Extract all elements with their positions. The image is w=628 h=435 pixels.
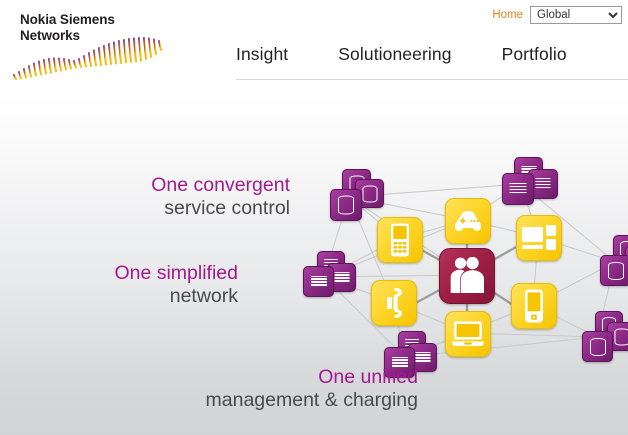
logo-wave-icon xyxy=(8,34,168,82)
laptop-icon xyxy=(452,321,484,347)
tv-node[interactable] xyxy=(516,215,562,261)
tv-screen-icon xyxy=(522,225,556,251)
home-link[interactable]: Home xyxy=(492,9,523,21)
smartphone-icon xyxy=(523,289,545,323)
utility-nav: Home Global xyxy=(492,6,622,24)
mobile-phone-icon xyxy=(389,223,411,257)
gamepad-node[interactable] xyxy=(445,198,491,244)
nav-item-portfolio[interactable]: Portfolio xyxy=(502,44,567,65)
region-select[interactable]: Global xyxy=(530,6,622,24)
gamepad-icon xyxy=(453,210,483,232)
database-stack-icon xyxy=(582,331,613,362)
mobile-node[interactable] xyxy=(377,217,423,263)
nav-item-solutioneering[interactable]: Solutioneering xyxy=(338,44,451,65)
nav-item-insight[interactable]: Insight xyxy=(236,44,288,65)
tagline-unified-line2: management & charging xyxy=(20,389,418,412)
two-people-icon xyxy=(447,257,487,295)
page-canvas: One convergent service control One simpl… xyxy=(0,0,628,435)
smartphone-node[interactable] xyxy=(511,283,557,329)
tagline-unified-line1: One unified xyxy=(20,366,418,389)
nokia-siemens-networks-logo[interactable]: Nokia Siemens Networks xyxy=(8,8,173,78)
telephone-icon xyxy=(383,287,405,319)
server-stack-icon xyxy=(502,173,534,205)
main-navigation: Insight Solutioneering Portfolio xyxy=(236,44,567,65)
server-stack-icon xyxy=(303,266,334,297)
tagline-unified: One unified management & charging xyxy=(20,366,418,412)
telephone-node[interactable] xyxy=(371,280,417,326)
database-stack-icon xyxy=(330,189,362,221)
database-stack-icon xyxy=(600,255,628,286)
tagline-simplified-line2: network xyxy=(20,285,238,308)
nav-divider xyxy=(236,79,628,80)
tagline-simplified: One simplified network xyxy=(20,262,238,308)
site-header: Nokia Siemens Networks xyxy=(0,0,628,82)
tagline-convergent-line2: service control xyxy=(20,197,290,220)
tagline-convergent: One convergent service control xyxy=(20,174,290,220)
tagline-convergent-line1: One convergent xyxy=(20,174,290,197)
laptop-node[interactable] xyxy=(445,311,491,357)
tagline-simplified-line1: One simplified xyxy=(20,262,238,285)
subscribers-hub[interactable] xyxy=(439,248,495,304)
